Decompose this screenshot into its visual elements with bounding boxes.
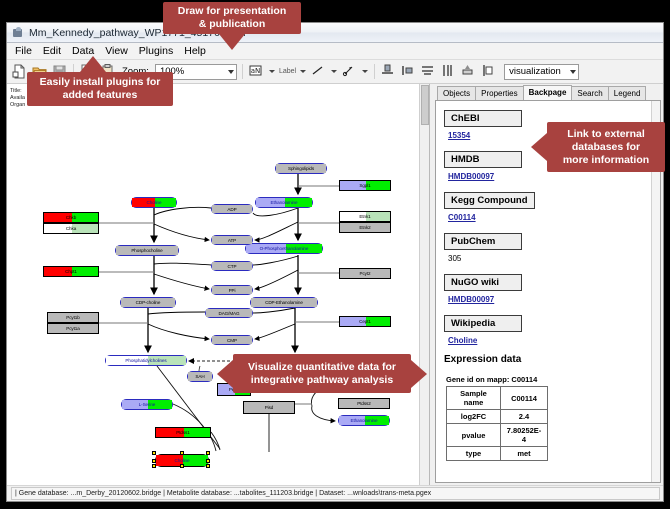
metabolite-node[interactable]: O-Phosphoethanolamine [245,243,323,254]
gene-node-label: Chka [66,226,76,231]
metabolite-node-label: CDP-Ethanolamine [265,300,303,305]
selection-handle[interactable] [152,459,156,463]
canvas-scroll-thumb[interactable] [421,85,429,125]
statusbar: | Gene database: ...m_Derby_20120602.bri… [7,485,663,501]
expression-table: Sample name C00114 log2FC 2.4 pvalue 7.8… [446,386,548,461]
metabolite-node[interactable]: Phosphocholine [115,245,179,256]
info-available: Availa [10,95,25,102]
expr-key-type: type [447,447,501,461]
toolbar-separator-2 [242,64,243,79]
menu-plugins[interactable]: Plugins [139,45,173,57]
gene-node[interactable]: Pisd [243,401,295,414]
metabolite-node-label: CMP [227,338,237,343]
menu-view[interactable]: View [105,45,128,57]
pathway-info-text: Title: Availa Organ [10,88,25,109]
metabolite-node-label: ATP [228,238,236,243]
backpage-heading-wikipedia: Wikipedia [444,315,522,332]
tab-legend[interactable]: Legend [608,86,647,100]
table-row: pvalue 7.80252E-4 [447,424,548,447]
menu-help[interactable]: Help [184,45,206,57]
gene-node[interactable]: Pcyt1a [47,323,99,334]
metabolite-node[interactable]: Sphingolipids [275,163,327,174]
svg-text:aN: aN [251,67,261,75]
gene-node-label: Etnk1 [359,214,370,219]
table-row: type met [447,447,548,461]
callout-visualize-arrow-right-icon [411,360,427,388]
datanode-dropdown-icon[interactable] [269,70,275,73]
metabolite-node-label: Choline [175,458,190,463]
backpage-heading-pubchem: PubChem [444,233,522,250]
chevron-down-icon-2 [570,70,576,74]
gene-node[interactable]: Pcyt1b [47,312,99,323]
interaction-icon[interactable] [341,63,358,80]
callout-install-plugins: Easily install plugins for added feature… [27,72,173,106]
gene-node-label: Pcyt2 [360,271,371,276]
callout-plugins-line2: added features [40,89,161,102]
callout-visualize-arrow-left-icon [217,360,233,388]
distribute-vertical-icon[interactable] [420,63,437,80]
info-title: Title: [10,88,25,95]
label-tool-text[interactable]: Label [279,68,296,75]
visualization-value: visualization [509,66,561,77]
toolbar-separator-3 [374,64,375,79]
selection-handle[interactable] [206,464,210,468]
menu-edit[interactable]: Edit [43,45,61,57]
gene-node-label: Pcyt1b [66,315,79,320]
metabolite-node[interactable]: CDP-Ethanolamine [250,297,318,308]
callout-link-line1: Link to external [563,128,649,141]
gene-node[interactable]: Sgpl1 [339,180,391,191]
chevron-down-icon [228,70,234,74]
gene-node-label: Cept1 [359,319,371,324]
distribute-horizontal-icon[interactable] [440,63,457,80]
metabolite-node-label: CTP [228,264,237,269]
metabolite-node[interactable]: Ethanolamine [255,197,313,208]
panel-tabstrip: Objects Properties Backpage Search Legen… [430,84,663,100]
selection-handle[interactable] [180,451,184,455]
metabolite-node[interactable]: DAG/MAG [205,308,253,318]
selection-handle[interactable] [206,459,210,463]
metabolite-node[interactable]: PPi [211,285,253,295]
window-titlebar: Mm_Kennedy_pathway_WP1771_45176.gpml [7,23,663,43]
interaction-dropdown-icon[interactable] [362,70,368,73]
align-left-icon[interactable] [400,63,417,80]
statusbar-text: | Gene database: ...m_Derby_20120602.bri… [11,487,660,500]
gene-node-label: Chkb [66,215,76,220]
backpage-link-nugo[interactable]: HMDB00097 [448,295,660,304]
gene-node[interactable]: Pcyt2 [339,268,391,279]
metabolite-node-label: CDP-choline [136,300,161,305]
datanode-icon[interactable]: aN [248,63,265,80]
table-row: Sample name C00114 [447,387,548,410]
expr-val-pvalue: 7.80252E-4 [501,424,548,447]
tab-properties[interactable]: Properties [475,86,523,100]
callout-link-line3: more information [563,154,649,167]
tab-backpage[interactable]: Backpage [523,85,573,100]
expr-val-log2fc: 2.4 [501,410,548,424]
backpage-link-wikipedia[interactable]: Choline [448,336,660,345]
gene-node[interactable]: Chkb [43,212,99,223]
gene-node-label: Pcyt1a [66,326,79,331]
expression-data-title: Expression data [444,354,660,365]
selection-handle[interactable] [152,451,156,455]
metabolite-node[interactable]: SAH [187,371,213,382]
backpage-link-hmdb[interactable]: HMDB00097 [448,172,660,181]
metabolite-node-label: DAG/MAG [219,311,240,316]
gene-node[interactable]: Etnk2 [339,222,391,233]
metabolite-node-label: SAH [195,374,204,379]
callout-plugins-line1: Easily install plugins for [40,76,161,89]
metabolite-node-label: Phosphocholine [131,248,162,253]
selection-handle[interactable] [180,464,184,468]
metabolite-node-label: PPi [229,288,236,293]
metabolite-node[interactable]: ATP [211,235,253,245]
menu-file[interactable]: File [15,45,32,57]
gene-node[interactable]: Etnk1 [339,211,391,222]
callout-visualize-line2: integrative pathway analysis [248,374,396,387]
metabolite-node[interactable]: Phosphatidylcholines [105,355,187,366]
metabolite-node[interactable]: CTP [211,261,253,271]
table-row: log2FC 2.4 [447,410,548,424]
callout-link-line2: databases for [563,141,649,154]
callout-visualize-data: Visualize quantitative data for integrat… [233,354,411,393]
tab-search[interactable]: Search [571,86,608,100]
backpage-heading-hmdb: HMDB [444,151,522,168]
metabolite-node[interactable]: Ethanolamine [338,415,390,426]
expr-key-sample: Sample name [447,387,501,410]
expr-val-sample: C00114 [501,387,548,410]
gene-node-label: Chpt1 [65,269,77,274]
gene-node[interactable]: Cept1 [339,316,391,327]
gene-node-label: Ptdss1 [176,430,189,435]
gene-node-label: Sgpl1 [359,183,370,188]
callout-link-arrow-icon [531,133,547,161]
backpage-heading-chebi: ChEBI [444,110,522,127]
metabolite-node-label: Choline [147,200,162,205]
pathvisio-icon [12,27,24,39]
callout-draw-line1: Draw for presentation [178,5,287,18]
backpage-heading-nugo: NuGO wiki [444,274,522,291]
metabolite-node-label: Ethanolamine [351,418,378,423]
selection-handle[interactable] [152,464,156,468]
line-dropdown-icon[interactable] [331,70,337,73]
pathway-canvas[interactable]: Title: Availa Organ [7,84,430,485]
metabolite-node-label: Ethanolamine [271,200,298,205]
backpage-heading-kegg: Kegg Compound [444,192,535,209]
metabolite-node[interactable]: CMP [211,335,253,345]
gene-node[interactable]: Chka [43,223,99,234]
backpage-link-kegg[interactable]: C00114 [448,213,660,222]
gene-node[interactable]: Chpt1 [43,266,99,277]
metabolite-node-label: O-Phosphoethanolamine [260,246,309,251]
expr-key-pvalue: pvalue [447,424,501,447]
backpage-value-pubchem: 305 [448,254,660,263]
expr-key-log2fc: log2FC [447,410,501,424]
gene-id-line: Gene id on mapp: C00114 [446,375,660,384]
gene-node[interactable]: Ptdss1 [155,427,211,438]
metabolite-node[interactable]: ADP [211,204,253,214]
metabolite-node-label: L-Serine [139,402,156,407]
expr-val-type: met [501,447,548,461]
callout-external-databases: Link to external databases for more info… [547,122,665,172]
callout-draw-line2: & publication [178,18,287,31]
group-icon[interactable] [480,63,497,80]
gene-node-label: Etnk2 [359,225,370,230]
selection-handle[interactable] [206,451,210,455]
line-icon[interactable] [310,63,327,80]
gene-node-label: Pisd [265,405,274,410]
gene-node-label: Ptdss2 [357,401,370,406]
info-organism: Organ [10,102,25,109]
label-dropdown-icon[interactable] [300,70,306,73]
metabolite-node[interactable]: CDP-choline [120,297,176,308]
metabolite-node-label: Phosphatidylcholines [125,358,166,363]
new-file-icon[interactable] [11,63,28,80]
metabolite-node[interactable]: L-Serine [121,399,173,410]
gene-node[interactable]: Ptdss2 [338,398,390,409]
callout-draw-arrow-icon [219,34,245,50]
stack-icon[interactable] [460,63,477,80]
metabolite-node[interactable]: Choline [131,197,177,208]
canvas-vertical-scrollbar[interactable] [419,84,429,485]
callout-visualize-line1: Visualize quantitative data for [248,361,396,374]
align-top-icon[interactable] [380,63,397,80]
screenshot-root: Mm_Kennedy_pathway_WP1771_45176.gpml Fil… [0,0,670,509]
metabolite-node-label: Sphingolipids [288,166,314,171]
visualization-combobox[interactable]: visualization [504,64,579,80]
callout-plugins-arrow-icon [80,56,106,72]
metabolite-node-label: ADP [227,207,236,212]
callout-draw-presentation: Draw for presentation & publication [163,2,301,34]
tab-objects[interactable]: Objects [437,86,476,100]
